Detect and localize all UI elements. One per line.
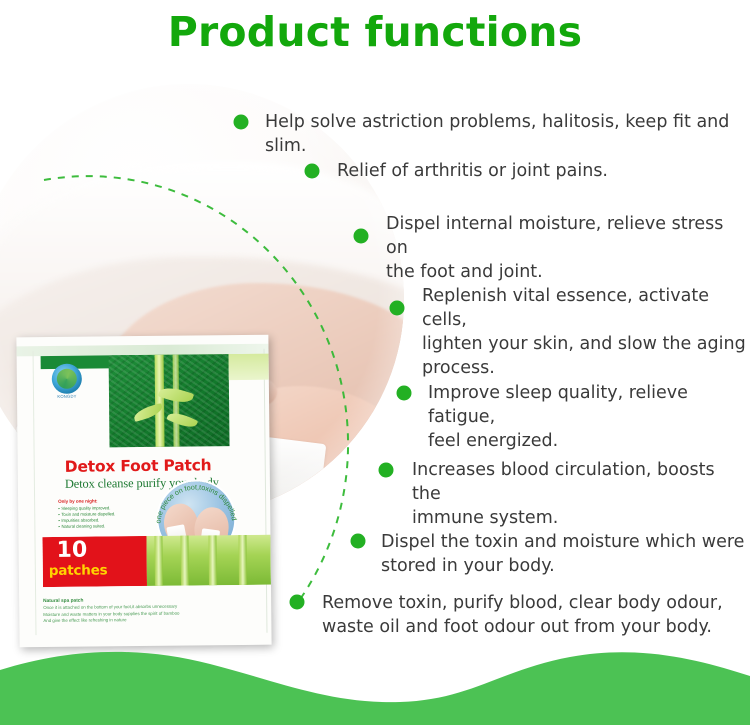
feature-item-7: Dispel the toxin and moisture which were… [381,530,747,578]
feature-item-2: Relief of arthritis or joint pains. [337,159,747,183]
box-benefits-list: Only by one night: Sleeping quality impr… [58,498,132,530]
feature-item-6: Increases blood circulation, boosts the … [412,458,748,530]
box-quantity-label: patches [49,562,108,579]
box-quantity-band: 10 patches [42,535,271,587]
box-product-title: Detox Foot Patch [65,456,212,476]
bullet-dot-7 [351,534,366,549]
bullet-dot-8 [290,595,305,610]
box-benefits-heading: Only by one night: [58,498,132,504]
bottom-wave-decoration [0,630,750,725]
box-bamboo-artwork [109,354,230,447]
brand-logo-text: KONGDY [52,394,82,399]
feature-item-4: Replenish vital essence, activate cells,… [422,284,747,380]
infographic-canvas: Product functions Help solve astriction … [0,0,750,725]
box-circle-caption-text: one piece on foot,toxins dispelled [153,482,239,524]
box-footer-line: And give the effect like refreshing in n… [43,616,271,625]
feature-item-1: Help solve astriction problems, halitosi… [265,110,745,158]
feature-item-3: Dispel internal moisture, relieve stress… [386,212,746,284]
box-footer-text: Natural spa patch Once it is attached on… [43,597,271,625]
brand-logo-icon: KONGDY [52,364,82,394]
feature-item-5: Improve sleep quality, relieve fatigue, … [428,381,748,453]
svg-text:one piece on foot,toxins dispe: one piece on foot,toxins dispelled [153,482,239,524]
box-benefit-item: Natural cleaning suited. [58,523,132,530]
product-box: KONGDY Detox Foot Patch Detox cleanse pu… [16,335,271,648]
page-title: Product functions [0,8,750,56]
box-quantity-number: 10 [56,538,87,563]
